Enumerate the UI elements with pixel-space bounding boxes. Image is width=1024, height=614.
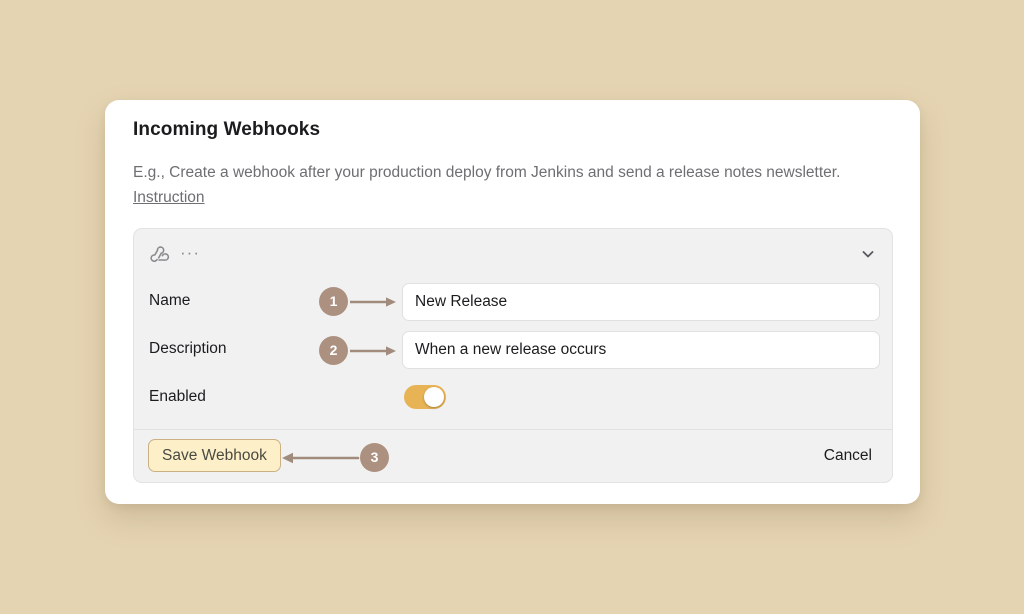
name-label: Name [149,292,190,310]
enabled-toggle-knob [424,387,444,407]
enabled-label: Enabled [149,388,206,406]
card-description-text: E.g., Create a webhook after your produc… [133,164,840,181]
enabled-toggle[interactable] [404,385,446,409]
page-title: Incoming Webhooks [133,119,320,141]
form-row-name: Name [134,279,892,327]
description-input[interactable] [402,331,880,369]
name-input[interactable] [402,283,880,321]
webhook-panel-footer: Save Webhook Cancel [134,429,892,482]
webhook-panel: ··· Name Description Enabled Save Webhoo… [133,228,893,483]
save-webhook-button[interactable]: Save Webhook [148,439,281,472]
webhook-icon [149,242,171,264]
form-row-enabled: Enabled [134,375,892,423]
webhook-panel-header: ··· [134,229,892,279]
description-label: Description [149,340,227,358]
instruction-link[interactable]: Instruction [133,189,205,206]
card-description: E.g., Create a webhook after your produc… [133,160,863,210]
form-row-description: Description [134,327,892,375]
cancel-button[interactable]: Cancel [820,439,876,472]
overflow-dots-icon[interactable]: ··· [180,246,200,260]
incoming-webhooks-card: Incoming Webhooks E.g., Create a webhook… [105,100,920,504]
chevron-down-icon[interactable] [860,246,876,262]
